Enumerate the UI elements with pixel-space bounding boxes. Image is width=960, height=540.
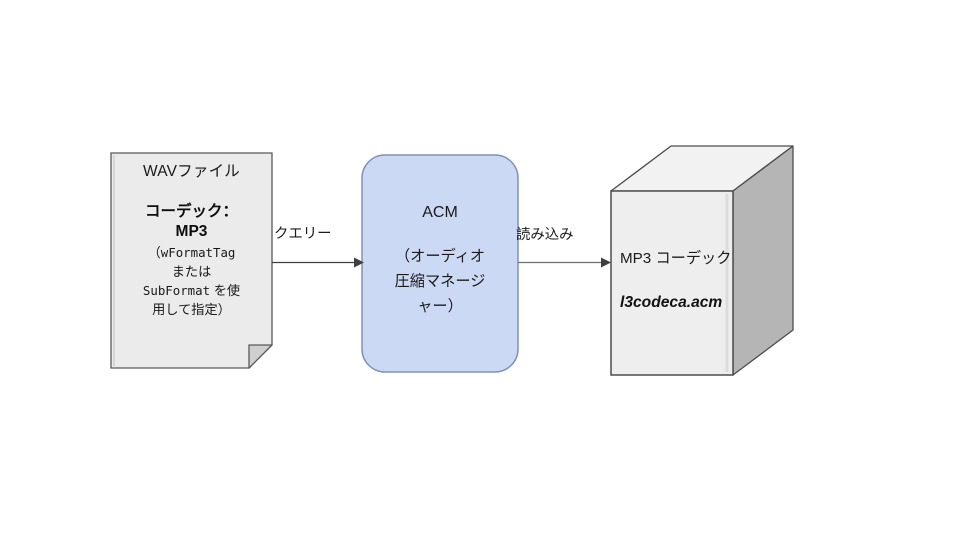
wav-document-codec-label: コーデック： — [145, 203, 238, 220]
wav-document-note-paren-open: （ — [148, 245, 161, 260]
diagram-canvas: WAVファイル コーデック： MP3 （wFormatTag または SubFo… — [0, 0, 960, 540]
edge-label-load: 読み込み — [516, 226, 574, 244]
wav-document-codec-value: MP3 — [176, 223, 208, 240]
edge-wav-to-acm — [272, 258, 364, 268]
acm-title: ACM — [422, 203, 458, 223]
wav-document-node: WAVファイル コーデック： MP3 （wFormatTag または SubFo… — [111, 153, 272, 368]
mp3-codec-node: MP3 コーデック l3codeca.acm — [620, 248, 780, 314]
wav-document-title: WAVファイル — [143, 162, 240, 182]
wav-document-note-subformat: SubFormat — [143, 283, 210, 298]
wav-document-note-tail2: 用して指定） — [152, 302, 231, 317]
acm-node: ACM （オーディオ 圧縮マネージ ャー） — [362, 155, 518, 372]
wav-document-note-tail1: を使 — [210, 283, 240, 298]
wav-document-note-or: または — [172, 264, 212, 279]
edge-label-query: クエリー — [274, 225, 332, 243]
edge-acm-to-codec — [518, 258, 611, 268]
wav-document-codec: コーデック： MP3 — [145, 202, 238, 242]
mp3-codec-filename: l3codeca.acm — [620, 292, 780, 314]
acm-subtitle: （オーディオ 圧縮マネージ ャー） — [374, 244, 506, 319]
edge-acm-to-codec-arrowhead — [601, 258, 611, 268]
acm-subtitle-line-1: （オーディオ — [395, 248, 485, 265]
acm-subtitle-line-3: ャー） — [417, 298, 463, 315]
mp3-codec-title: MP3 コーデック — [620, 248, 780, 270]
wav-document-note: （wFormatTag または SubFormat を使 用して指定） — [116, 243, 268, 319]
wav-document-note-wformattag: wFormatTag — [161, 245, 236, 260]
acm-subtitle-line-2: 圧縮マネージ — [395, 273, 486, 290]
